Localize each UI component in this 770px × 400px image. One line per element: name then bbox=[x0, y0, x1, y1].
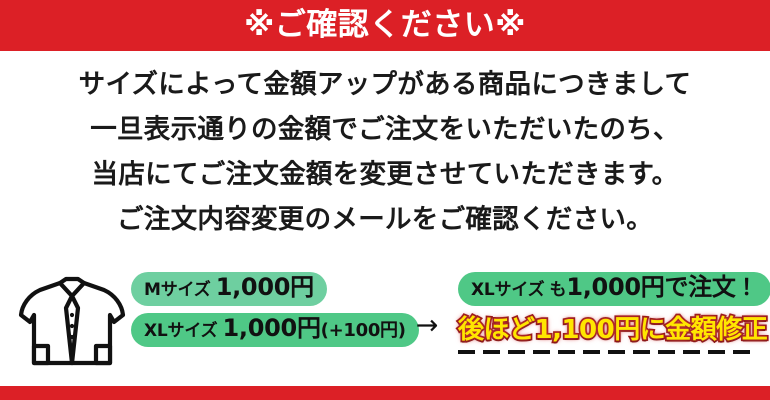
badge-m-size-price: 1,000円 bbox=[216, 273, 314, 301]
after-column: XLサイズ も1,000円で注文！ 後ほど1,100円に金額修正 bbox=[458, 272, 758, 354]
notice-line-4: ご注文内容変更のメールをご確認ください。 bbox=[0, 197, 770, 242]
notice-line-3: 当店にてご注文金額を変更させていただきます。 bbox=[0, 152, 770, 197]
notice-body: サイズによって金額アップがある商品につきまして 一旦表示通りの金額でご注文をいた… bbox=[0, 62, 770, 242]
dashed-underline bbox=[458, 350, 750, 354]
badge-xl-size-price: 1,000円 bbox=[223, 314, 321, 342]
badge-xl-size: XLサイズ 1,000円(+100円) bbox=[131, 313, 419, 347]
price-correction-text: 後ほど1,100円に金額修正 bbox=[458, 316, 750, 345]
header-title: ※ご確認ください※ bbox=[244, 10, 526, 41]
dress-shirt-icon bbox=[16, 274, 128, 372]
badge-xl-order-label: XLサイズ bbox=[471, 280, 544, 300]
header-bar: ※ご確認ください※ bbox=[0, 0, 770, 51]
badge-m-size: Mサイズ 1,000円 bbox=[131, 272, 327, 306]
before-column: Mサイズ 1,000円 XLサイズ 1,000円(+100円) bbox=[131, 272, 393, 347]
notice-line-2: 一旦表示通りの金額でご注文をいただいたのち、 bbox=[0, 107, 770, 152]
badge-xl-order-price: 1,000円 bbox=[566, 273, 664, 301]
arrow-right-icon: → bbox=[399, 312, 455, 339]
price-comparison: Mサイズ 1,000円 XLサイズ 1,000円(+100円) → XLサイズ … bbox=[0, 266, 770, 386]
notice-banner: ※ご確認ください※ サイズによって金額アップがある商品につきまして 一旦表示通り… bbox=[0, 0, 770, 400]
notice-line-1: サイズによって金額アップがある商品につきまして bbox=[0, 62, 770, 107]
badge-xl-order: XLサイズ も1,000円で注文！ bbox=[458, 272, 770, 306]
badge-xl-size-label: XLサイズ bbox=[144, 321, 217, 341]
badge-xl-order-prefix: も bbox=[550, 280, 567, 300]
badge-xl-order-exclamation: ！ bbox=[736, 276, 758, 301]
badge-xl-size-addon: (+100円) bbox=[321, 320, 406, 341]
badge-m-size-label: Mサイズ bbox=[144, 280, 211, 300]
arrow-glyph: → bbox=[416, 310, 439, 341]
footer-bar bbox=[0, 386, 770, 400]
price-correction-notice: 後ほど1,100円に金額修正 bbox=[458, 316, 750, 354]
badge-xl-order-suffix: で注文 bbox=[664, 273, 735, 301]
